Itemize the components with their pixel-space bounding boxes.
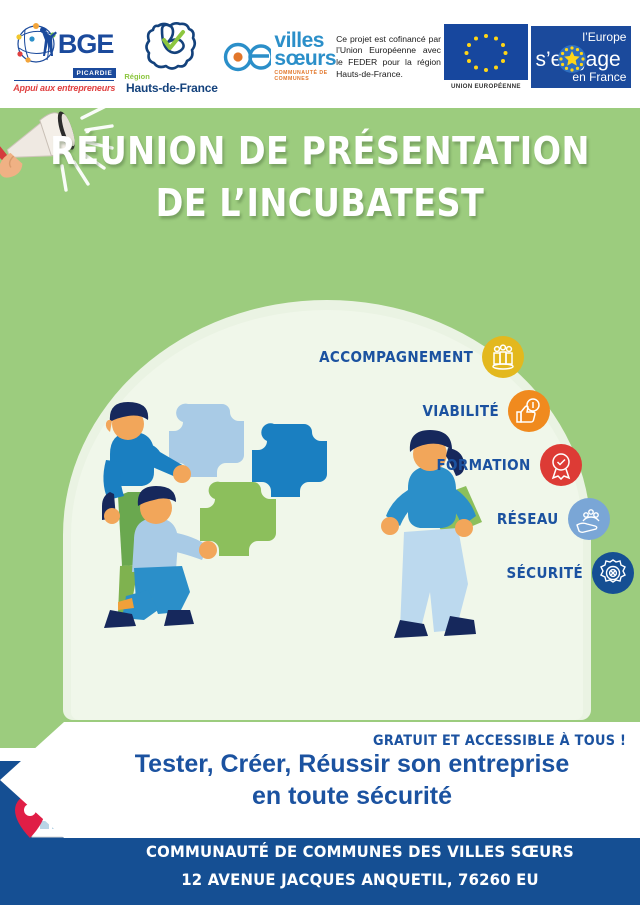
partner-logo-bar: BGE PICARDIE Appui aux entrepreneurs Rég… <box>0 0 640 108</box>
region-label: Région <box>124 72 149 81</box>
service-item-viabilite: VIABILITÉ <box>304 390 550 432</box>
villes-soeurs-logo: villes sœurs COMMUNAUTÉ DE COMMUNES <box>223 32 336 81</box>
bge-divider <box>14 80 114 82</box>
service-label: ACCOMPAGNEMENT <box>319 348 473 366</box>
thumbs-up-idea-icon <box>508 390 550 432</box>
bge-picardie-badge: PICARDIE <box>73 68 117 78</box>
title-line-1: RÉUNION DE PRÉSENTATION <box>38 130 601 174</box>
eu-funding-statement: Ce projet est cofinancé par l’Union Euro… <box>336 34 441 80</box>
poster-title: RÉUNION DE PRÉSENTATION DE L’INCUBATEST <box>0 130 640 225</box>
poster-main-green-area: RÉUNION DE PRÉSENTATION DE L’INCUBATEST <box>0 108 640 748</box>
slogan-line-2: en toute sécurité <box>252 780 452 812</box>
bge-network-icon <box>15 22 61 66</box>
group-people-icon <box>482 336 524 378</box>
service-label: VIABILITÉ <box>422 402 499 420</box>
villes-soeurs-subtitle: COMMUNAUTÉ DE COMMUNES <box>274 70 336 82</box>
event-poster: BGE PICARDIE Appui aux entrepreneurs Rég… <box>0 0 640 905</box>
service-label: RÉSEAU <box>497 510 559 528</box>
event-venue: COMMUNAUTÉ DE COMMUNES DES VILLES SŒURS <box>128 842 593 861</box>
service-label: FORMATION <box>437 456 531 474</box>
eu-flag-icon <box>444 24 528 80</box>
france-map-heart-icon <box>140 20 204 72</box>
service-item-formation: FORMATION <box>304 444 582 486</box>
free-access-notice: GRATUIT ET ACCESSIBLE À TOUS ! <box>373 733 626 749</box>
event-address: 12 AVENUE JACQUES ANQUETIL, 76260 EU <box>128 870 593 889</box>
villes-soeurs-oe-icon <box>223 37 271 77</box>
hand-network-icon <box>568 498 610 540</box>
slogan-line-1: Tester, Créer, Réussir son entreprise <box>135 748 569 780</box>
shield-gear-icon <box>592 552 634 594</box>
bge-tagline: Appui aux entrepreneurs <box>13 83 115 93</box>
services-list: ACCOMPAGNEMENT VIABILITÉ <box>304 336 634 606</box>
award-ribbon-check-icon <box>540 444 582 486</box>
service-item-securite: SÉCURITÉ <box>304 552 634 594</box>
europe-sengage-logo: l’Europe s’engage en France <box>531 26 632 88</box>
region-name: Hauts-de-France <box>126 81 218 95</box>
bge-wordmark: BGE <box>58 32 114 56</box>
european-union-flag-logo: UNION EUROPÉENNE <box>441 24 531 90</box>
eu-flag-caption: UNION EUROPÉENNE <box>451 83 521 90</box>
europe-sengage-badge: l’Europe s’engage en France <box>531 26 631 88</box>
title-line-2: DE L’INCUBATEST <box>38 182 601 226</box>
bge-picardie-logo: BGE PICARDIE Appui aux entrepreneurs <box>8 21 120 93</box>
eu-star-circle-icon <box>557 44 587 74</box>
region-hauts-de-france-logo: Région Hauts-de-France <box>120 20 223 95</box>
service-item-accompagnement: ACCOMPAGNEMENT <box>304 336 524 378</box>
europe-sengage-line1: l’Europe <box>582 30 626 44</box>
service-label: SÉCURITÉ <box>506 564 583 582</box>
service-item-reseau: RÉSEAU <box>304 498 610 540</box>
villes-soeurs-line2: sœurs <box>274 50 336 68</box>
